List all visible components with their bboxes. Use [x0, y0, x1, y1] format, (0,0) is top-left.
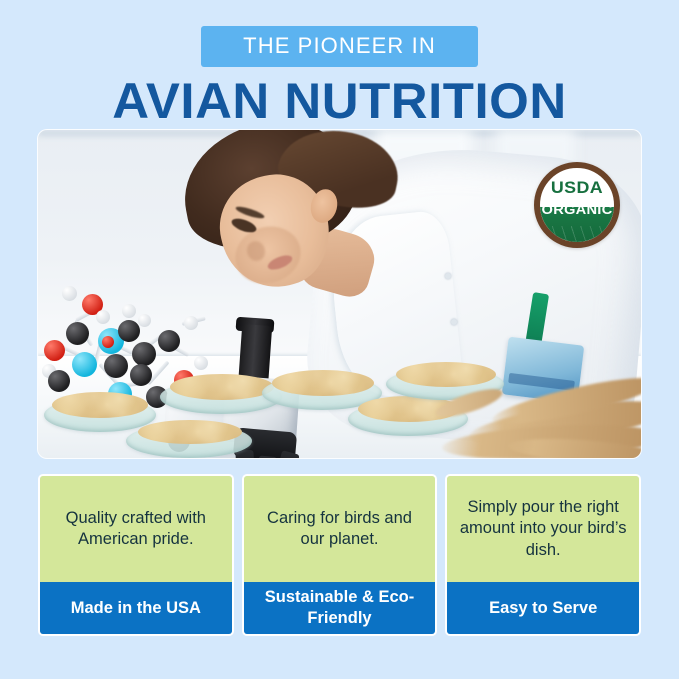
feature-card-easy-to-serve: Simply pour the right amount into your b…: [445, 474, 641, 636]
seal-usda-text: USDA: [538, 178, 616, 198]
objective-lens: [256, 456, 277, 458]
page-title: AVIAN NUTRITION: [0, 76, 679, 126]
feature-card-title: Easy to Serve: [447, 582, 639, 634]
atom-carbon: [66, 322, 89, 345]
atom-oxygen: [44, 340, 65, 361]
infographic-poster: THE PIONEER IN AVIAN NUTRITION: [0, 0, 679, 679]
atom-oxygen: [102, 336, 114, 348]
seal-organic-text: ORGANIC: [538, 201, 616, 217]
grain-sample: [272, 370, 374, 396]
feature-card-description: Quality crafted with American pride.: [40, 476, 232, 582]
atom-carbon: [132, 342, 156, 366]
grain-sample: [52, 392, 148, 418]
atom-carbon: [104, 354, 128, 378]
header: THE PIONEER IN AVIAN NUTRITION: [0, 26, 679, 126]
grain-sample: [396, 362, 496, 387]
grain-sample: [138, 420, 242, 444]
atom-hydrogen: [138, 314, 151, 327]
atom-hydrogen: [96, 310, 110, 324]
atom-carbon: [130, 364, 152, 386]
feature-card-made-in-usa: Quality crafted with American pride. Mad…: [38, 474, 234, 636]
feature-card-description: Simply pour the right amount into your b…: [447, 476, 639, 582]
eyebrow-banner: THE PIONEER IN: [201, 26, 478, 67]
feature-cards: Quality crafted with American pride. Mad…: [38, 474, 641, 636]
feature-card-description: Caring for birds and our planet.: [244, 476, 436, 582]
feature-card-title: Sustainable & Eco-Friendly: [244, 582, 436, 634]
atom-carbon: [48, 370, 70, 392]
atom-nitrogen: [72, 352, 97, 377]
feature-card-title: Made in the USA: [40, 582, 232, 634]
atom-carbon: [118, 320, 140, 342]
hero-photo: USDA ORGANIC: [38, 130, 641, 458]
usda-organic-seal: USDA ORGANIC: [534, 162, 620, 248]
atom-hydrogen: [184, 316, 198, 330]
atom-carbon: [158, 330, 180, 352]
feature-card-sustainable: Caring for birds and our planet. Sustain…: [242, 474, 438, 636]
atom-hydrogen: [194, 356, 208, 370]
badge-stripe: [507, 373, 575, 391]
atom-hydrogen: [62, 286, 77, 301]
grain-sample: [170, 374, 274, 400]
atom-hydrogen: [122, 304, 136, 318]
eyebrow-wrap: THE PIONEER IN: [0, 26, 679, 67]
